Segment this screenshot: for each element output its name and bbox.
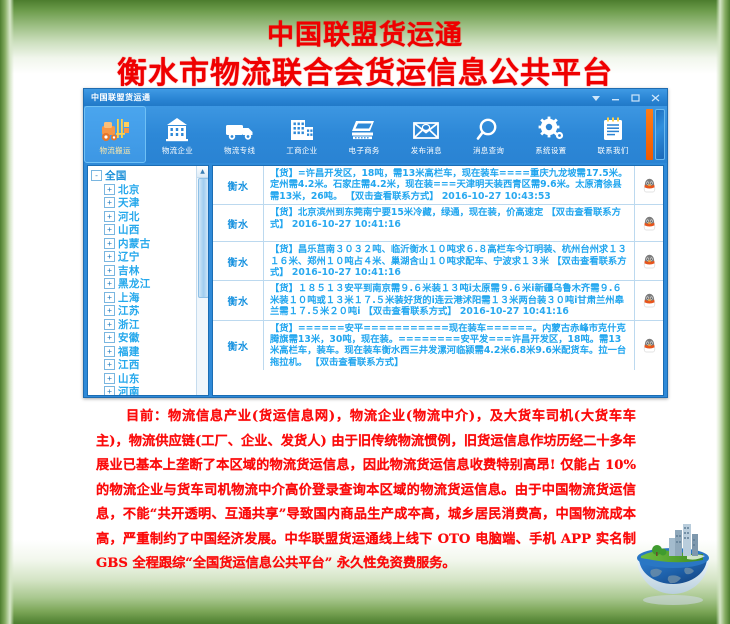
cell-message[interactable]: 【货】=许昌开发区，18吨，需13米高栏车，现在装车====重庆九龙坡需17.5… (264, 166, 634, 204)
cell-contact[interactable] (634, 281, 663, 319)
tree-node-province[interactable]: +河北 (91, 210, 206, 224)
toolbar-divider (646, 109, 653, 160)
message-text: 【货】１８５１３安平到南京需９.６米装１３吨ⅰ太原需９.６米ⅰ新疆乌鲁木齐需９.… (270, 283, 624, 317)
tree-toggle-icon[interactable]: + (104, 346, 115, 357)
cell-contact[interactable] (634, 166, 663, 204)
region-tree: - 全国 +北京+天津+河北+山西+内蒙古+辽宁+吉林+黑龙江+上海+江苏+浙江… (88, 166, 208, 396)
table-row[interactable]: 衡水【货】======安平===========现在装车======。内蒙古赤峰… (213, 321, 663, 371)
scrollbar-thumb[interactable] (198, 178, 209, 298)
message-timestamp: 2016-10-27 10:41:16 (292, 267, 401, 278)
toolbar-item-logistics-line[interactable]: 物流专线 (209, 106, 271, 163)
tree-node-province[interactable]: +安徽 (91, 331, 206, 345)
toolbar-item-industrial-enterprise[interactable]: 工商企业 (271, 106, 333, 163)
qq-penguin-icon[interactable] (643, 178, 656, 193)
tree-toggle-icon[interactable]: + (104, 197, 115, 208)
cell-city: 衡水 (213, 166, 264, 204)
table-row[interactable]: 衡水【货】北京滨州到东莞南宁要15米冷藏，绿通，现在装，价高速定 【双击查看联系… (213, 205, 663, 242)
tree-toggle-icon[interactable]: - (91, 170, 102, 181)
tree-toggle-icon[interactable]: + (104, 238, 115, 249)
cell-city: 衡水 (213, 321, 264, 371)
qq-penguin-icon[interactable] (643, 216, 656, 231)
qq-penguin-icon[interactable] (643, 254, 656, 269)
cell-message[interactable]: 【货】１８５１３安平到南京需９.６米装１３吨ⅰ太原需９.６米ⅰ新疆乌鲁木齐需９.… (264, 281, 634, 319)
tree-toggle-icon[interactable]: + (104, 319, 115, 330)
dropdown-icon[interactable] (586, 91, 605, 105)
application-window: 中国联盟货运通 (83, 88, 668, 398)
tree-toggle-icon[interactable]: + (104, 386, 115, 396)
message-timestamp: 2016-10-27 10:41:16 (460, 306, 569, 317)
tree-toggle-icon[interactable]: + (104, 373, 115, 384)
minimize-icon[interactable] (606, 91, 625, 105)
close-icon[interactable] (646, 91, 665, 105)
window-body: - 全国 +北京+天津+河北+山西+内蒙古+辽宁+吉林+黑龙江+上海+江苏+浙江… (84, 163, 667, 398)
cell-contact[interactable] (634, 242, 663, 280)
tree-node-province[interactable]: +内蒙古 (91, 237, 206, 251)
cell-contact[interactable] (634, 205, 663, 241)
window-titlebar: 中国联盟货运通 (84, 89, 667, 106)
toolbar-label: 消息查询 (473, 145, 504, 156)
toolbar-label: 发布消息 (411, 145, 442, 156)
toolbar-item-message-query[interactable]: 消息查询 (457, 106, 519, 163)
cell-message[interactable]: 【货】北京滨州到东莞南宁要15米冷藏，绿通，现在装，价高速定 【双击查看联系方式… (264, 205, 634, 241)
toolbar-item-logistics-handling[interactable]: 物流搬运 (84, 106, 146, 163)
tree-toggle-icon[interactable]: + (104, 332, 115, 343)
globe-city-graphic (625, 520, 721, 608)
tree-toggle-icon[interactable]: + (104, 278, 115, 289)
freight-message-table: 衡水【货】=许昌开发区，18吨，需13米高栏车，现在装车====重庆九龙坡需17… (212, 165, 664, 396)
toolbar-item-publish-message[interactable]: 发布消息 (395, 106, 457, 163)
toolbar-item-contact-us[interactable]: 联系我们 (582, 106, 644, 163)
window-controls (586, 89, 665, 106)
building-icon (164, 114, 190, 144)
tree-toggle-icon[interactable]: + (104, 292, 115, 303)
qq-penguin-icon[interactable] (643, 338, 656, 353)
toolbar-label: 电子商务 (349, 145, 380, 156)
toolbar-label: 物流专线 (224, 145, 255, 156)
message-text: 【货】======安平===========现在装车======。内蒙古赤峰市克… (270, 323, 626, 368)
cell-city: 衡水 (213, 205, 264, 241)
tree-node-province[interactable]: +山东 (91, 372, 206, 386)
forklift-icon (100, 114, 130, 144)
tree-node-province[interactable]: +山西 (91, 223, 206, 237)
tree-toggle-icon[interactable]: + (104, 184, 115, 195)
tree-toggle-icon[interactable]: + (104, 224, 115, 235)
search-icon (475, 114, 503, 144)
region-tree-panel: - 全国 +北京+天津+河北+山西+内蒙古+辽宁+吉林+黑龙江+上海+江苏+浙江… (87, 165, 209, 396)
description-paragraph: 目前：物流信息产业(货运信息网)，物流企业(物流中介)，及大货车司机(大货车车主… (96, 405, 636, 577)
tree-node-province[interactable]: +上海 (91, 291, 206, 305)
toolbar-label: 物流搬运 (100, 145, 131, 156)
tree-node-nationwide[interactable]: - 全国 (91, 169, 206, 183)
tree-toggle-icon[interactable]: + (104, 251, 115, 262)
toolbar-label: 工商企业 (286, 145, 317, 156)
toolbar-item-system-settings[interactable]: 系统设置 (520, 106, 582, 163)
message-timestamp: 2016-10-27 10:43:53 (442, 191, 551, 202)
table-row[interactable]: 衡水【货】=许昌开发区，18吨，需13米高栏车，现在装车====重庆九龙坡需17… (213, 166, 663, 205)
envelope-icon (411, 114, 441, 144)
tree-node-province[interactable]: +黑龙江 (91, 277, 206, 291)
banner-wave-decoration (656, 110, 664, 114)
gear-icon (536, 114, 566, 144)
qq-penguin-icon[interactable] (643, 293, 656, 308)
tree-node-province[interactable]: +河南 (91, 385, 206, 396)
toolbar-label: 系统设置 (535, 145, 566, 156)
toolbar-item-logistics-enterprise[interactable]: 物流企业 (146, 106, 208, 163)
tree-node-province[interactable]: +江苏 (91, 304, 206, 318)
tree-node-province[interactable]: +辽宁 (91, 250, 206, 264)
tree-toggle-icon[interactable]: + (104, 211, 115, 222)
cell-city: 衡水 (213, 281, 264, 319)
toolbar-item-ecommerce[interactable]: 电子商务 (333, 106, 395, 163)
ecommerce-icon (349, 114, 379, 144)
cell-message[interactable]: 【货】======安平===========现在装车======。内蒙古赤峰市克… (264, 321, 634, 371)
window-title: 中国联盟货运通 (91, 92, 151, 103)
tree-node-province[interactable]: +浙江 (91, 318, 206, 332)
scroll-up-icon[interactable]: ▲ (197, 166, 208, 178)
message-timestamp: 2016-10-27 10:41:16 (292, 219, 401, 230)
toolbar-promo-banner[interactable]: 各位会员 要全方位测试 “货运通” 功能! (655, 109, 665, 160)
tree-toggle-icon[interactable]: + (104, 305, 115, 316)
cell-message[interactable]: 【货】昌乐莒南３０３２吨、临沂衡水１０吨求６.８高栏车今订明装、杭州台州求１３１… (264, 242, 634, 280)
tree-node-label: 河南 (118, 384, 140, 396)
page-title-line2: 衡水市物流联合会货运信息公共平台 (0, 56, 730, 92)
tree-node-province[interactable]: +江西 (91, 358, 206, 372)
toolbar-label: 物流企业 (162, 145, 193, 156)
tree-node-province[interactable]: +吉林 (91, 264, 206, 278)
page-background: 中国联盟货运通 衡水市物流联合会货运信息公共平台 中国联盟货运通 (0, 0, 730, 624)
tree-node-province[interactable]: +天津 (91, 196, 206, 210)
tree-scrollbar[interactable]: ▲ (196, 166, 208, 395)
page-title-line1: 中国联盟货运通 (0, 20, 730, 52)
toolbar-label: 联系我们 (597, 145, 628, 156)
cell-city: 衡水 (213, 242, 264, 280)
main-toolbar: 物流搬运 物流企业 (84, 106, 667, 163)
tree-toggle-icon[interactable]: + (104, 265, 115, 276)
table-row[interactable]: 衡水【货】昌乐莒南３０３２吨、临沂衡水１０吨求６.８高栏车今订明装、杭州台州求１… (213, 242, 663, 281)
cell-contact[interactable] (634, 321, 663, 371)
document-icon (600, 114, 626, 144)
tree-node-province[interactable]: +福建 (91, 345, 206, 359)
table-row[interactable]: 衡水【货】１８５１３安平到南京需９.６米装１３吨ⅰ太原需９.６米ⅰ新疆乌鲁木齐需… (213, 281, 663, 320)
office-icon (288, 114, 316, 144)
maximize-icon[interactable] (626, 91, 645, 105)
truck-icon (224, 114, 256, 144)
tree-node-province[interactable]: +北京 (91, 183, 206, 197)
tree-toggle-icon[interactable]: + (104, 359, 115, 370)
